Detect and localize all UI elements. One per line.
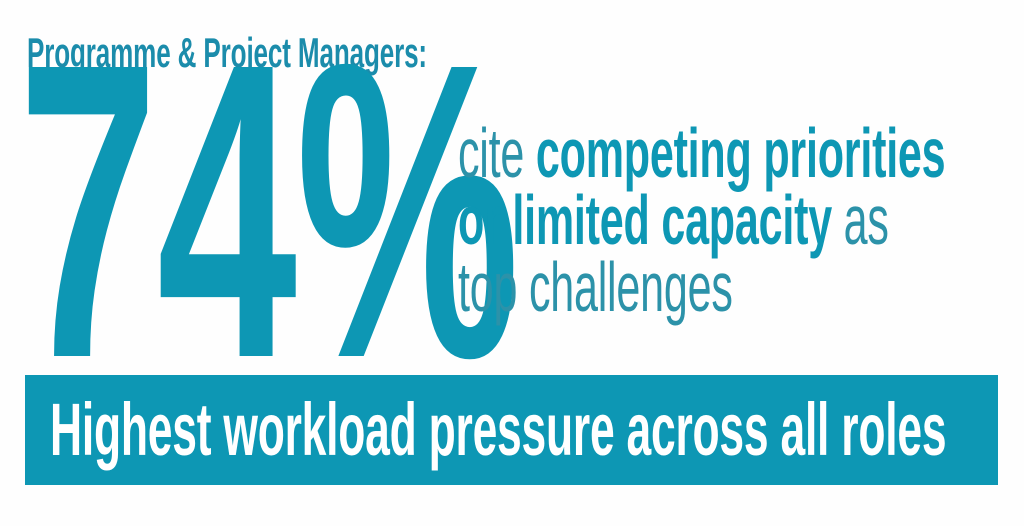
body-copy-line-1-inner: cite competing priorities — [458, 120, 945, 187]
statistic-display: 74% — [18, 62, 519, 362]
body-copy-line-2: or limited capacity as — [458, 187, 1003, 254]
infographic-canvas: Programme & Project Managers: 74% cite c… — [0, 0, 1024, 526]
body-copy-line-3: top challenges — [458, 254, 1003, 321]
callout-text-inner: Highest workload pressure across all rol… — [50, 402, 946, 458]
body-copy-line-2-inner: or limited capacity as — [458, 187, 889, 254]
body-copy-line-3-regular: top challenges — [458, 248, 733, 326]
callout-banner-text: Highest workload pressure across all rol… — [50, 402, 1024, 458]
body-copy-line-2-regular: as — [832, 181, 889, 259]
body-copy-line-3-inner: top challenges — [458, 254, 733, 321]
body-copy: cite competing priorities or limited cap… — [458, 120, 1003, 321]
body-copy-line-1: cite competing priorities — [458, 120, 1003, 187]
callout-banner: Highest workload pressure across all rol… — [25, 375, 998, 485]
